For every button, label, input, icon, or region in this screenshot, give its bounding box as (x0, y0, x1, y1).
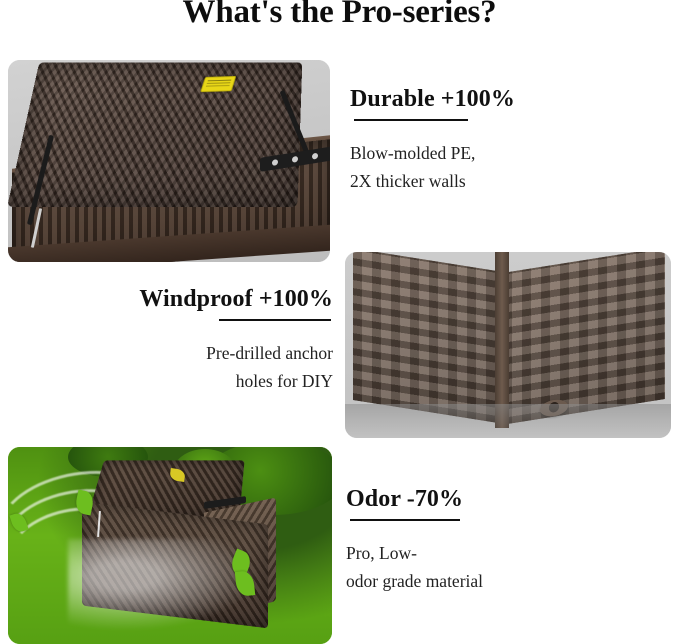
feature-odor-body: Pro, Low- odor grade material (346, 539, 666, 595)
feature-durable-heading: Durable +100% (350, 86, 650, 113)
airflow-mist (68, 539, 258, 631)
photo-rattan-corner (345, 252, 671, 438)
feature-durable-body: Blow-molded PE, 2X thicker walls (350, 139, 650, 195)
page-title: What's the Pro-series? (0, 0, 679, 31)
photo-lawn-deck-box (8, 447, 332, 644)
rattan-face-left (353, 252, 503, 424)
pro-series-feature-panel: What's the Pro-series? Durable +100% Blo… (0, 0, 679, 644)
photo-open-deck-box (8, 60, 330, 262)
feature-odor-rule (350, 519, 460, 521)
feature-durable-rule (354, 119, 468, 121)
feature-windproof-body: Pre-drilled anchor holes for DIY (33, 339, 333, 395)
feature-odor-heading: Odor -70% (346, 486, 666, 513)
feature-durable: Durable +100% Blow-molded PE, 2X thicker… (350, 86, 650, 195)
rattan-corner-edge (495, 252, 509, 428)
warning-label-icon (200, 76, 236, 92)
rattan-face-right (503, 252, 665, 425)
feature-windproof: Windproof +100% Pre-drilled anchor holes… (33, 286, 333, 395)
feature-windproof-heading: Windproof +100% (33, 286, 333, 313)
feature-odor: Odor -70% Pro, Low- odor grade material (346, 486, 666, 595)
feature-windproof-rule (219, 319, 331, 321)
photo-floor-shadow (345, 404, 671, 438)
